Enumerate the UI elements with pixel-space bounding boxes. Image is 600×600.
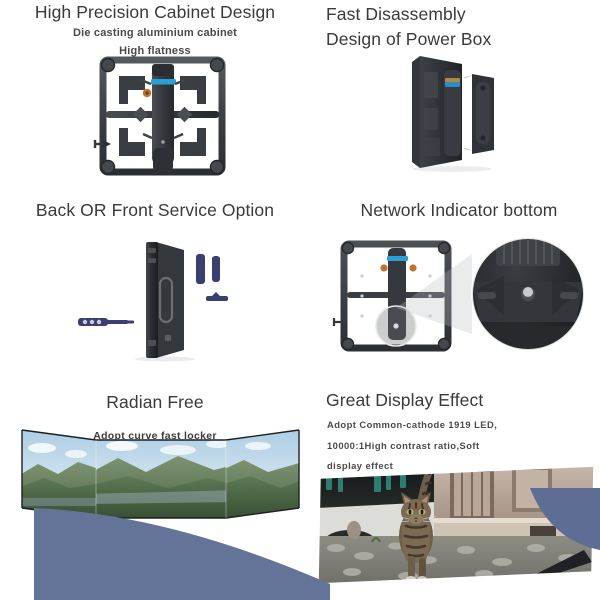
product-feature-sheet: High Precision Cabinet Design Die castin… [0,0,600,600]
panel-high-precision-cabinet: High Precision Cabinet Design Die castin… [0,0,310,195]
power-box-detach-image [390,48,540,173]
screwdriver-icon-front [78,318,134,326]
panel-title-radian: Radian Free [0,392,310,413]
cabinet-rear-frame-image [95,52,230,180]
magnified-indicator-view [472,236,584,354]
panel-subtitle-cabinet-line1: Die casting aluminium cabinet [0,26,310,41]
display-spec-line1: Adopt Common-cathode 1919 LED, [318,418,600,431]
panel-back-or-front-service: Back OR Front Service Option [0,196,310,374]
network-indicator-led [523,287,533,297]
panel-radian-free: Radian Free Adopt curve fast locker [0,382,310,600]
radian-caption: Adopt curve fast locker [0,430,310,442]
screwdriver-icon-back [196,254,228,301]
panel-title-display: Great Display Effect [318,390,600,411]
panel-title-powerbox-line1: Fast Disassembly [318,4,600,25]
service-option-image [60,232,250,360]
cat-photo-image [316,464,596,586]
panel-network-indicator: Network Indicator bottom [318,196,600,374]
panel-fast-disassembly-power-box: Fast Disassembly Design of Power Box [318,0,600,195]
network-indicator-image [318,230,600,362]
panel-title-cabinet: High Precision Cabinet Design [0,2,310,23]
panel-title-network: Network Indicator bottom [318,200,600,221]
display-spec-line2: 10000:1High contrast ratio,Soft [318,439,600,452]
panel-great-display-effect: Great Display Effect Adopt Common-cathod… [318,382,600,600]
curved-led-wall-image [18,424,303,544]
blue-accent-strip [151,79,176,85]
panel-title-service: Back OR Front Service Option [0,200,310,221]
